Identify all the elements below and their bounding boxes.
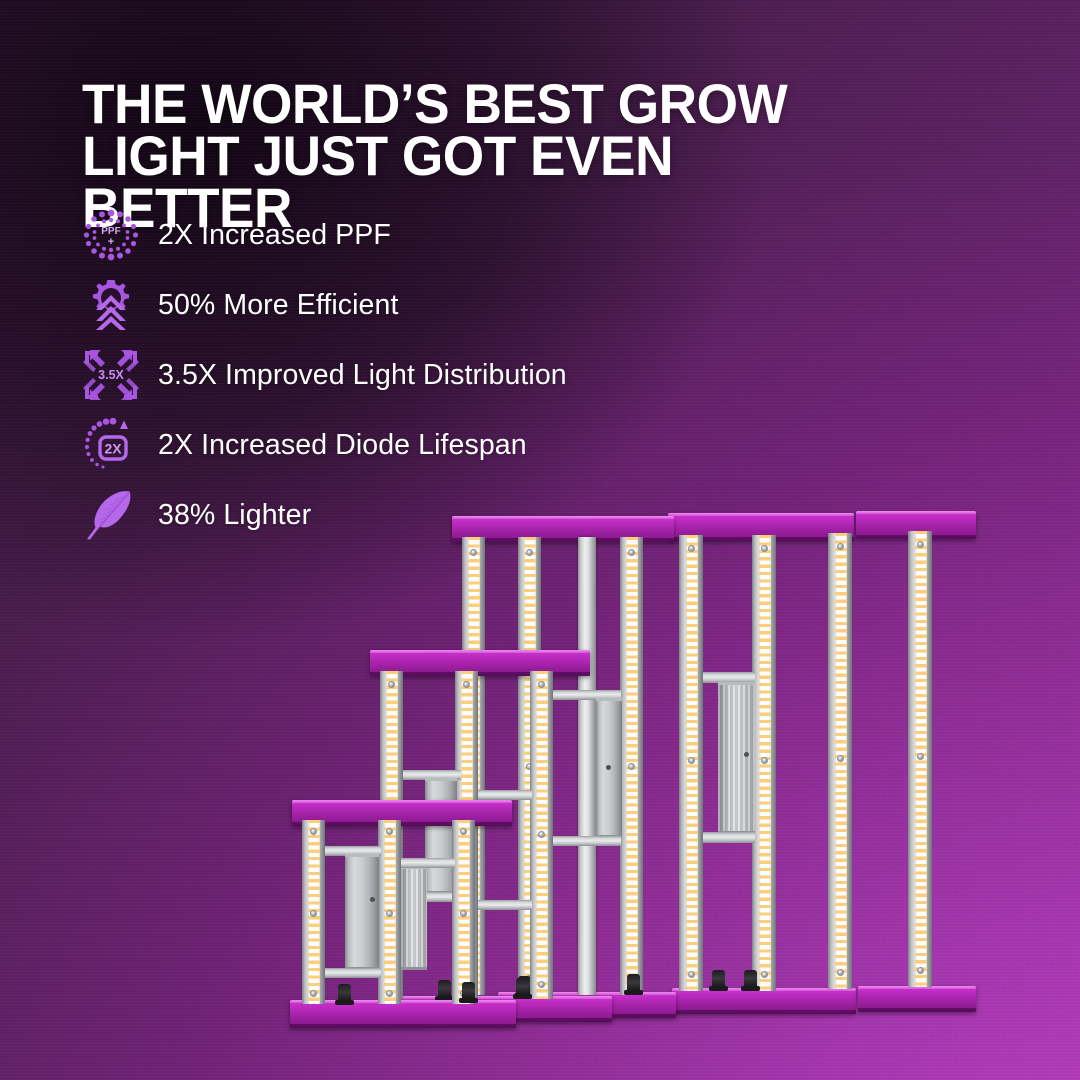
led-bar-screw <box>917 967 924 974</box>
driver-screw-dot <box>744 752 749 757</box>
driver-screw-dot <box>606 765 611 770</box>
led-bar <box>620 537 643 995</box>
ppf-ring-icon: PPF + <box>78 205 144 265</box>
fixture-medium-top-rail <box>370 650 590 676</box>
hanger-clip <box>338 984 351 1002</box>
lifespan-dial-icon: 2X <box>78 415 144 475</box>
driver-screw-dot <box>370 897 375 902</box>
led-bar-screw <box>538 831 545 838</box>
led-bar-screw <box>917 541 924 548</box>
led-bar-screw <box>460 828 467 835</box>
feature-label: 3.5X Improved Light Distribution <box>158 359 567 392</box>
led-bar-screw <box>837 969 844 976</box>
fixture-medium-cross-member <box>478 900 532 910</box>
feature-label: 2X Increased Diode Lifespan <box>158 429 527 462</box>
led-bar-screw <box>463 681 470 688</box>
led-bar-screw <box>688 757 695 764</box>
expand-icon-text: 3.5X <box>98 368 124 382</box>
hanger-clip <box>462 982 475 1000</box>
led-bar-screw <box>761 545 768 552</box>
fixture-xlarge-bottom-rail-right <box>858 986 976 1012</box>
led-bar-screw <box>628 549 635 556</box>
fixture-xlarge-bottom-rail-left <box>672 988 856 1014</box>
fixture-small-cross-member <box>325 968 381 978</box>
led-bar <box>302 820 325 1004</box>
fixture-small-top-rail <box>292 800 512 826</box>
feature-label: 2X Increased PPF <box>158 219 391 252</box>
led-bar-screw <box>917 753 924 760</box>
led-bar <box>908 531 932 987</box>
fixture-large-frame-bar <box>578 537 596 995</box>
led-bar-screw <box>837 755 844 762</box>
led-bar-screw <box>386 990 393 997</box>
led-bar-screw <box>386 910 393 917</box>
hanger-clip <box>516 978 529 996</box>
feature-item-lighter: 38% Lighter <box>78 480 718 550</box>
led-bar-screw <box>310 910 317 917</box>
led-bar-screw <box>526 549 533 556</box>
lifespan-icon-text: 2X <box>104 441 122 457</box>
led-bar-screw <box>538 681 545 688</box>
feature-list: PPF + 2X Increased PPF 50% More Efficien… <box>78 200 718 550</box>
feature-item-diode-lifespan: 2X 2X Increased Diode Lifespan <box>78 410 718 480</box>
fixture-xlarge-driver-box <box>718 682 755 834</box>
feature-label: 38% Lighter <box>158 499 311 532</box>
led-bar <box>679 535 703 991</box>
led-bar-screw <box>761 757 768 764</box>
led-bar-screw <box>538 981 545 988</box>
led-bar-screw <box>460 910 467 917</box>
feature-item-ppf: PPF + 2X Increased PPF <box>78 200 718 270</box>
feature-item-efficiency: 50% More Efficient <box>78 270 718 340</box>
feather-icon <box>78 485 144 545</box>
expand-arrows-icon: 3.5X <box>78 345 144 405</box>
led-bar-screw <box>310 990 317 997</box>
fixture-small-driver-box <box>345 854 379 970</box>
led-bar-screw <box>470 549 477 556</box>
fixture-large-cross-member <box>541 836 621 846</box>
led-bar-screw <box>388 681 395 688</box>
led-bar-screw <box>688 971 695 978</box>
feature-item-light-distribution: 3.5X 3.5X Improved Light Distribution <box>78 340 718 410</box>
led-bar-screw <box>386 828 393 835</box>
led-bar <box>752 535 776 991</box>
led-bar-screw <box>837 543 844 550</box>
led-bar <box>828 533 852 989</box>
led-bar-screw <box>310 828 317 835</box>
led-bar-screw <box>628 763 635 770</box>
hanger-clip <box>627 974 640 992</box>
hanger-clip <box>712 970 725 988</box>
fixture-small-cross-member <box>401 858 455 868</box>
fixture-xlarge-cross-member <box>703 832 755 843</box>
led-bar <box>452 820 475 1004</box>
lifespan-arrow-head <box>120 421 128 430</box>
hanger-clip <box>744 970 757 988</box>
fixture-small-bottom-rail <box>290 1000 516 1028</box>
led-bar <box>530 671 553 999</box>
feature-label: 50% More Efficient <box>158 289 398 322</box>
fixture-small-driver-box <box>401 866 427 970</box>
gear-chevrons-icon <box>78 275 144 335</box>
fixture-medium-cross-member <box>478 790 532 800</box>
led-bar-screw <box>761 971 768 978</box>
hanger-clip <box>438 980 451 998</box>
led-bar <box>378 820 401 1004</box>
ppf-icon-plus: + <box>108 236 114 248</box>
